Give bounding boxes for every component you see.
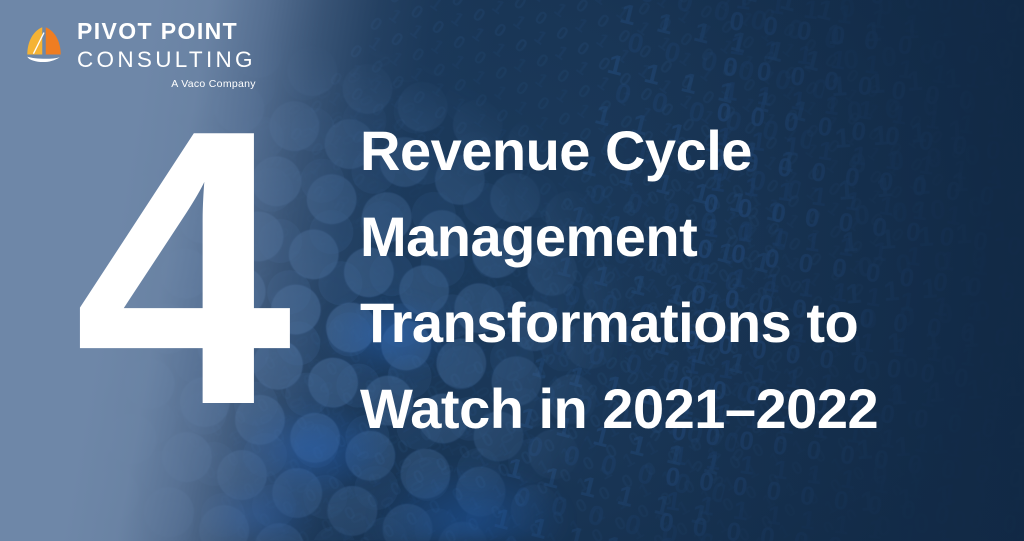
- headline-line-3: Transformations to: [360, 280, 980, 366]
- logo-wordmark: PIVOT POINT CONSULTING A Vaco Company: [77, 20, 256, 89]
- brand-logo[interactable]: PIVOT POINT CONSULTING A Vaco Company: [22, 20, 256, 89]
- hero-headline: Revenue Cycle Management Transformations…: [360, 108, 980, 452]
- logo-name-line1: PIVOT POINT: [77, 20, 256, 43]
- headline-line-1: Revenue Cycle: [360, 108, 980, 194]
- hero-banner: 0 1 1 0 0 1: [0, 0, 1024, 541]
- headline-line-4: Watch in 2021–2022: [360, 366, 980, 452]
- headline-line-2: Management: [360, 194, 980, 280]
- hero-number: 4: [74, 72, 284, 464]
- logo-name-line2: CONSULTING: [77, 49, 256, 72]
- logo-tagline: A Vaco Company: [77, 79, 256, 90]
- sailboat-circle-icon: [22, 22, 66, 66]
